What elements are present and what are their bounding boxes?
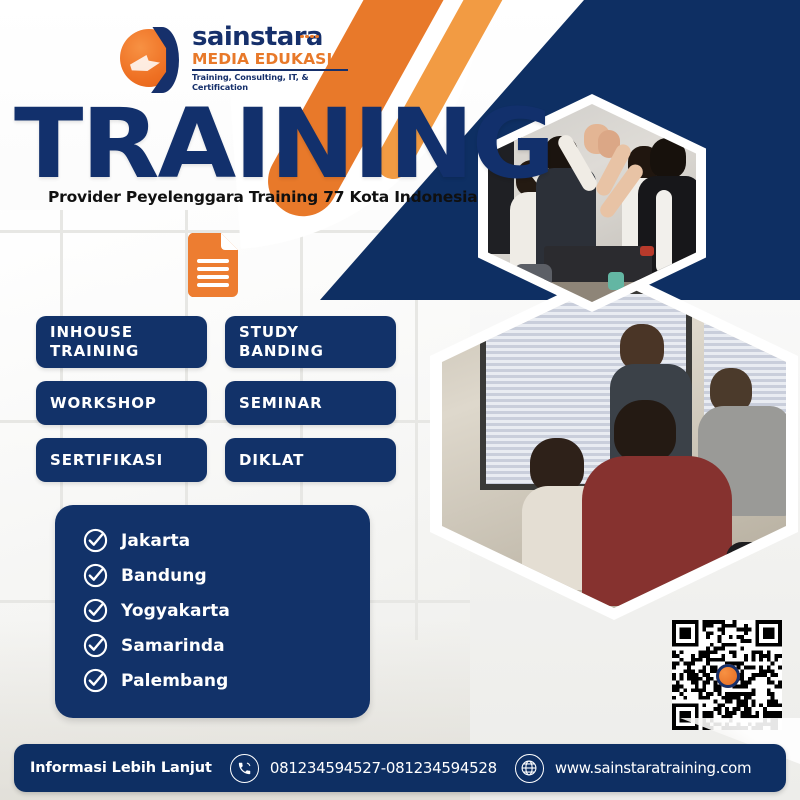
- service-label: DIKLAT: [239, 451, 304, 470]
- service-button-study-banding[interactable]: STUDYBANDING: [225, 316, 396, 368]
- document-icon: [188, 233, 238, 297]
- city-label: Yogyakarta: [121, 601, 230, 621]
- city-label: Palembang: [121, 671, 228, 691]
- globe-icon: [515, 754, 544, 783]
- footer-bar: Informasi Lebih Lanjut 081234594527-0812…: [14, 744, 786, 792]
- brand-subtitle: MEDIA EDUKASI: [192, 51, 348, 68]
- list-item[interactable]: Jakarta: [55, 523, 370, 558]
- check-circle-icon: [83, 668, 108, 693]
- service-label: SERTIFIKASI: [50, 451, 163, 470]
- footer-label: Informasi Lebih Lanjut: [30, 760, 212, 776]
- brand-logo: sainstara MEDIA EDUKASI Training, Consul…: [118, 24, 348, 96]
- service-label: SEMINAR: [239, 394, 323, 413]
- city-label: Bandung: [121, 566, 207, 586]
- service-button-sertifikasi[interactable]: SERTIFIKASI: [36, 438, 207, 482]
- service-label-line1: INHOUSE: [50, 323, 133, 341]
- service-button-inhouse-training[interactable]: INHOUSETRAINING: [36, 316, 207, 368]
- brand-dots-icon: [300, 25, 320, 43]
- service-button-diklat[interactable]: DIKLAT: [225, 438, 396, 482]
- service-buttons: INHOUSETRAINING STUDYBANDING WORKSHOP SE…: [36, 316, 396, 495]
- check-circle-icon: [83, 528, 108, 553]
- phone-icon: [230, 754, 259, 783]
- service-button-seminar[interactable]: SEMINAR: [225, 381, 396, 425]
- footer-website[interactable]: www.sainstaratraining.com: [555, 759, 752, 777]
- page-subtitle: Provider Peyelenggara Training 77 Kota I…: [48, 188, 478, 206]
- sainstara-logo-icon: [118, 27, 184, 93]
- page-title: TRAINING: [14, 96, 553, 192]
- qr-center-logo-icon: [716, 664, 740, 688]
- city-label: Samarinda: [121, 636, 225, 656]
- service-label-line2: TRAINING: [50, 342, 139, 360]
- list-item[interactable]: Samarinda: [55, 628, 370, 663]
- service-button-workshop[interactable]: WORKSHOP: [36, 381, 207, 425]
- service-label-line2: BANDING: [239, 342, 324, 360]
- list-item[interactable]: Bandung: [55, 558, 370, 593]
- list-item[interactable]: Palembang: [55, 663, 370, 698]
- poster-canvas: sainstara MEDIA EDUKASI Training, Consul…: [0, 0, 800, 800]
- list-item[interactable]: Yogyakarta: [55, 593, 370, 628]
- service-label-line1: STUDY: [239, 323, 299, 341]
- brand-divider: [192, 69, 348, 71]
- check-circle-icon: [83, 598, 108, 623]
- footer-phone[interactable]: 081234594527-081234594528: [270, 759, 497, 777]
- service-label: WORKSHOP: [50, 394, 157, 413]
- check-circle-icon: [83, 633, 108, 658]
- check-circle-icon: [83, 563, 108, 588]
- brand-name: sainstara: [192, 24, 348, 51]
- city-label: Jakarta: [121, 531, 190, 551]
- qr-code[interactable]: [672, 620, 782, 730]
- cities-card: Jakarta Bandung Yogyakarta Samarinda Pal…: [55, 505, 370, 718]
